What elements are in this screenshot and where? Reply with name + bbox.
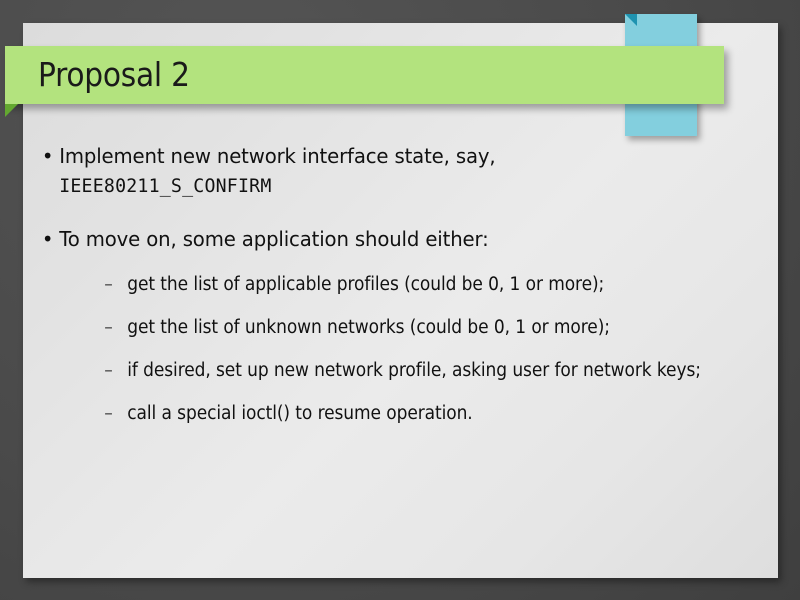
- dash-marker-icon: –: [104, 315, 112, 341]
- presentation-slide: Proposal 2 • Implement new network inter…: [0, 0, 800, 600]
- title-banner-fold-icon: [5, 104, 18, 117]
- slide-body: • Implement new network interface state,…: [40, 142, 760, 427]
- bullet-text: To move on, some application should eith…: [59, 227, 488, 251]
- bullet-item: • To move on, some application should ei…: [40, 225, 731, 427]
- sub-bullet-text: if desired, set up new network profile, …: [127, 360, 701, 381]
- dash-marker-icon: –: [104, 272, 112, 298]
- sub-bullet-list: – get the list of applicable profiles (c…: [101, 272, 731, 427]
- sub-bullet-item: – if desired, set up new network profile…: [101, 358, 706, 384]
- sub-bullet-item: – call a special ioctl() to resume opera…: [101, 401, 706, 427]
- decorative-blue-bar-fold-icon: [625, 14, 637, 26]
- dash-marker-icon: –: [104, 401, 112, 427]
- sub-bullet-item: – get the list of applicable profiles (c…: [101, 272, 706, 298]
- sub-bullet-text: get the list of applicable profiles (cou…: [127, 274, 604, 295]
- bullet-text: Implement new network interface state, s…: [59, 144, 495, 168]
- bullet-code-text: IEEE80211_S_CONFIRM: [59, 171, 731, 201]
- slide-title: Proposal 2: [38, 52, 614, 98]
- sub-bullet-item: – get the list of unknown networks (coul…: [101, 315, 706, 341]
- sub-bullet-text: call a special ioctl() to resume operati…: [127, 403, 472, 424]
- bullet-marker-icon: •: [42, 142, 53, 171]
- sub-bullet-text: get the list of unknown networks (could …: [127, 317, 610, 338]
- bullet-item: • Implement new network interface state,…: [40, 142, 731, 201]
- bullet-marker-icon: •: [42, 225, 53, 254]
- dash-marker-icon: –: [104, 358, 112, 384]
